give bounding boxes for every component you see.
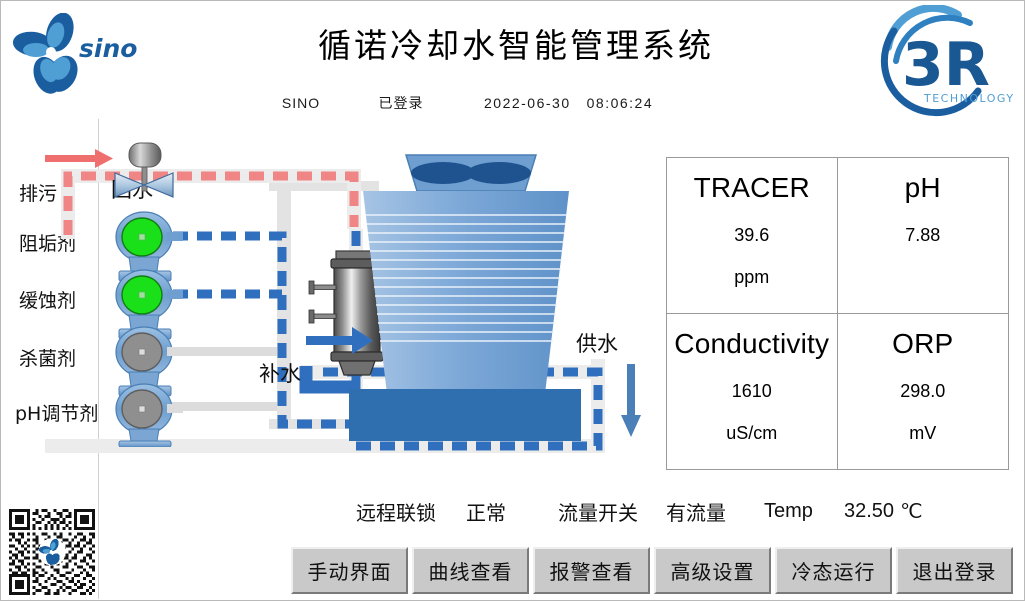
- measurement-cell-tracer: TRACER 39.6 ppm: [667, 158, 838, 314]
- cooling-tower: [349, 155, 581, 441]
- temperature-label: Temp: [764, 500, 844, 523]
- blowdown-valve[interactable]: [115, 143, 173, 197]
- measurement-unit: ppm: [734, 267, 769, 288]
- fan-blade-left: [411, 162, 475, 184]
- remote-interlock-value: 正常: [466, 497, 558, 526]
- sino-wordmark: sino: [79, 34, 137, 63]
- measurement-value: 7.88: [905, 225, 940, 246]
- measurement-unit: uS/cm: [726, 423, 777, 444]
- supply-flow-arrow: [621, 364, 641, 437]
- makeup-water-label: 补水: [259, 362, 301, 386]
- alarm-view-button[interactable]: 报警查看: [533, 547, 650, 594]
- measurement-value: 298.0: [900, 381, 945, 402]
- measurement-panel: TRACER 39.6 ppm pH 7.88 Conductivity 161…: [666, 157, 1009, 470]
- system-time: 08:06:24: [587, 95, 654, 111]
- advanced-settings-button[interactable]: 高级设置: [654, 547, 771, 594]
- pump-ph-adjuster[interactable]: [116, 384, 183, 447]
- manual-screen-button[interactable]: 手动界面: [291, 547, 408, 594]
- measurement-cell-conductivity: Conductivity 1610 uS/cm: [667, 314, 838, 470]
- tower-body: [363, 191, 569, 394]
- 3r-technology-logo: 3R TECHNOLOGY: [866, 5, 1016, 117]
- measurement-name: Conductivity: [674, 328, 829, 360]
- measurement-value: 39.6: [734, 225, 769, 246]
- hmi-screen: sino 循诺冷却水智能管理系统 SINO 已登录 2022-06-30 08:…: [0, 0, 1025, 601]
- button-bar: 手动界面 曲线查看 报警查看 高级设置 冷态运行 退出登录: [291, 547, 1013, 594]
- flow-switch-label: 流量开关: [558, 497, 666, 526]
- user-name: SINO: [256, 95, 346, 111]
- status-strip: 远程联锁 正常 流量开关 有流量 Temp 32.50 ℃: [356, 495, 1016, 527]
- fan-blade-right: [467, 162, 531, 184]
- sino-logo: sino: [11, 13, 171, 99]
- logout-button[interactable]: 退出登录: [896, 547, 1013, 594]
- remote-interlock-label: 远程联锁: [356, 497, 466, 526]
- measurement-name: TRACER: [694, 172, 810, 204]
- flow-switch-value: 有流量: [666, 497, 764, 526]
- login-state: 已登录: [346, 93, 456, 113]
- system-date: 2022-06-30: [484, 95, 571, 111]
- temperature-value: 32.50: [844, 500, 894, 523]
- measurement-name: ORP: [892, 328, 953, 360]
- dosing-equipment: [97, 137, 207, 447]
- technology-wordmark: TECHNOLOGY: [923, 92, 1015, 105]
- supply-water-label: 供水: [576, 332, 618, 356]
- measurement-value: 1610: [732, 381, 772, 402]
- measurement-unit: mV: [909, 423, 936, 444]
- measurement-cell-orp: ORP 298.0 mV: [838, 314, 1009, 470]
- trend-view-button[interactable]: 曲线查看: [412, 547, 529, 594]
- header: sino 循诺冷却水智能管理系统 SINO 已登录 2022-06-30 08:…: [1, 1, 1024, 123]
- measurement-cell-ph: pH 7.88: [838, 158, 1009, 314]
- qr-code: [9, 509, 95, 595]
- 3r-wordmark: 3R: [902, 30, 990, 100]
- session-status: SINO 已登录 2022-06-30 08:06:24: [256, 91, 816, 115]
- page-title: 循诺冷却水智能管理系统: [256, 19, 776, 67]
- cold-start-button[interactable]: 冷态运行: [775, 547, 892, 594]
- tower-basin: [349, 389, 581, 441]
- temperature-unit: ℃: [900, 499, 922, 524]
- measurement-name: pH: [905, 172, 941, 204]
